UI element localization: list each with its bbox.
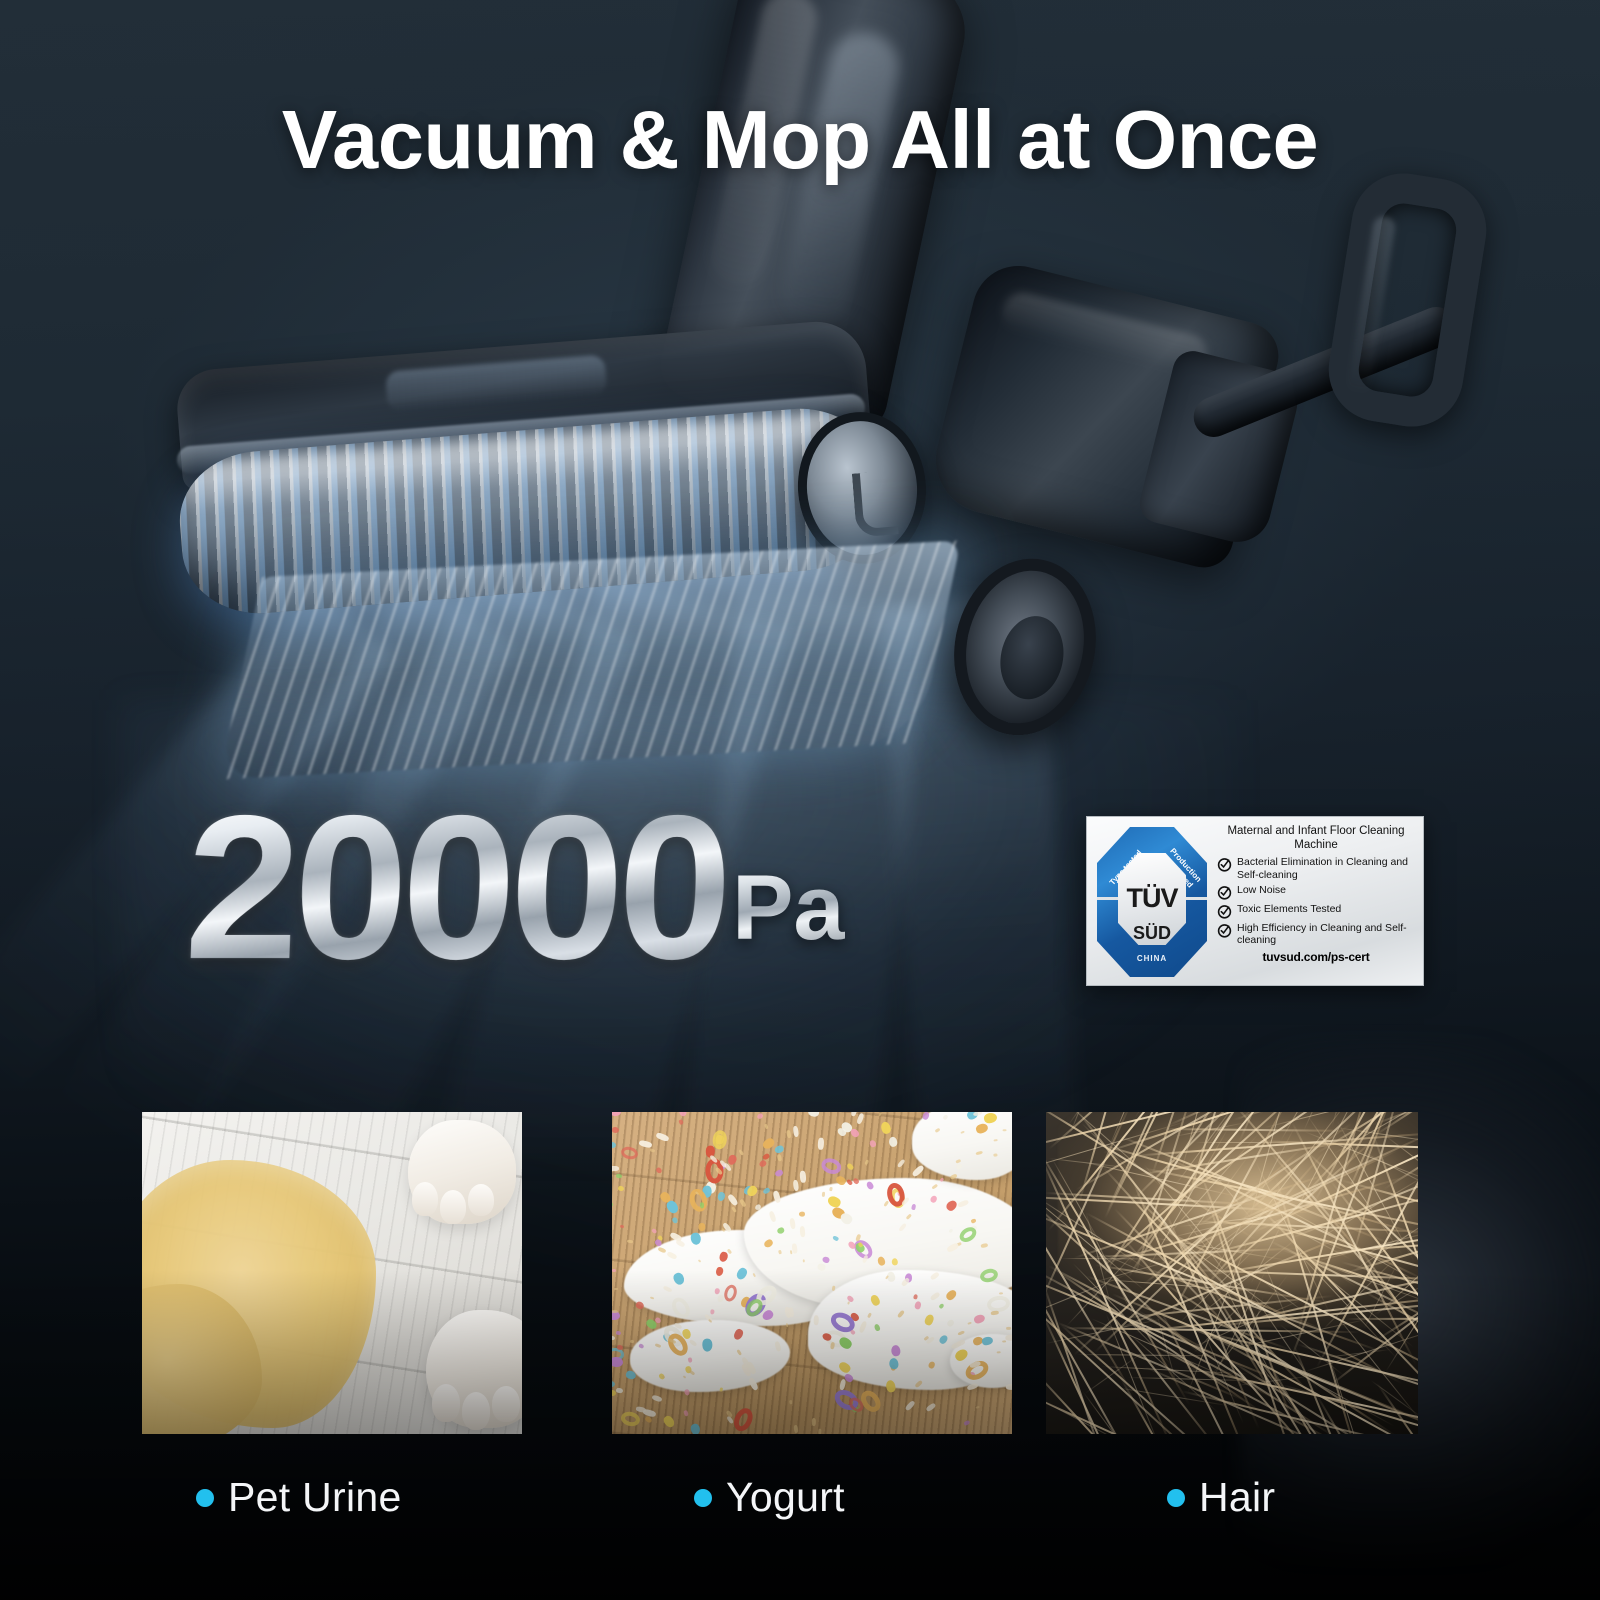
demo-caption-label: Hair (1199, 1474, 1275, 1521)
suction-base-plate (219, 540, 961, 779)
vacuum-body-tube (655, 0, 976, 439)
tuv-certification-badge: Type tested Production monitored TÜV SÜD… (1086, 816, 1424, 986)
tuv-wordmark: TÜV (1127, 886, 1178, 912)
page-title: Vacuum & Mop All at Once (0, 92, 1600, 188)
check-circle-icon (1217, 904, 1232, 919)
tuv-claim-text: Bacterial Elimination in Cleaning and Se… (1237, 856, 1415, 881)
tuv-sud-wordmark: SÜD (1097, 923, 1207, 944)
dog-paw (426, 1310, 522, 1428)
product-banner: Vacuum & Mop All at Once 20000 Pa Type t… (0, 0, 1600, 1600)
brush-roller-end-cap (792, 407, 932, 569)
tuv-badge-title: Maternal and Infant Floor Cleaning Machi… (1217, 825, 1415, 852)
brush-roller-highlight (175, 411, 877, 514)
vacuum-wand (1188, 301, 1463, 443)
cleaning-head-cover (174, 318, 871, 492)
suction-power-callout: 20000 Pa (186, 800, 845, 976)
demo-photo-pet-urine (142, 1112, 522, 1434)
bullet-dot-icon (196, 1489, 214, 1507)
demo-panels (0, 1112, 1600, 1434)
demo-caption-pet-urine: Pet Urine (196, 1474, 402, 1521)
brush-roller (175, 403, 886, 619)
tuv-claim-item: High Efficiency in Cleaning and Self-cle… (1217, 922, 1415, 947)
tuv-logo: Type tested Production monitored TÜV SÜD… (1087, 817, 1215, 985)
demo-caption-yogurt: Yogurt (694, 1474, 845, 1521)
demo-captions: Pet Urine Yogurt Hair (0, 1474, 1600, 1564)
tuv-claim-item: Low Noise (1217, 884, 1415, 900)
demo-caption-label: Pet Urine (228, 1474, 402, 1521)
tuv-claim-item: Toxic Elements Tested (1217, 903, 1415, 919)
tuv-claim-text: Toxic Elements Tested (1237, 903, 1341, 915)
vacuum-motor-cap (1136, 347, 1305, 549)
tuv-claim-item: Bacterial Elimination in Cleaning and Se… (1217, 856, 1415, 881)
vacuum-motor-housing (924, 256, 1285, 574)
tuv-certificate-url: tuvsud.com/ps-cert (1217, 950, 1415, 964)
tuv-claim-text: Low Noise (1237, 884, 1286, 896)
tuv-badge-content: Maternal and Infant Floor Cleaning Machi… (1215, 817, 1423, 985)
vacuum-wheel (938, 545, 1112, 748)
demo-caption-label: Yogurt (726, 1474, 845, 1521)
dog-paw (408, 1120, 516, 1224)
tuv-region-label: CHINA (1097, 954, 1207, 963)
suction-power-unit: Pa (732, 862, 845, 954)
bullet-dot-icon (694, 1489, 712, 1507)
suction-power-value: 20000 (183, 800, 729, 976)
check-circle-icon (1217, 923, 1232, 938)
cleaning-head-rim (176, 393, 866, 475)
suction-airflow-lines (219, 540, 961, 779)
check-circle-icon (1217, 857, 1232, 872)
bullet-dot-icon (1167, 1489, 1185, 1507)
demo-photo-yogurt (612, 1112, 1012, 1434)
tuv-claims-list: Bacterial Elimination in Cleaning and Se… (1217, 856, 1415, 947)
brush-roller-bristles (175, 403, 886, 619)
tuv-octagon-icon: Type tested Production monitored TÜV SÜD… (1097, 827, 1207, 977)
demo-photo-hair (1046, 1112, 1418, 1434)
vacuum-handle-grip (1321, 166, 1493, 434)
check-circle-icon (1217, 885, 1232, 900)
tuv-claim-text: High Efficiency in Cleaning and Self-cle… (1237, 922, 1415, 947)
demo-caption-hair: Hair (1167, 1474, 1275, 1521)
hair-strands (1046, 1112, 1418, 1434)
